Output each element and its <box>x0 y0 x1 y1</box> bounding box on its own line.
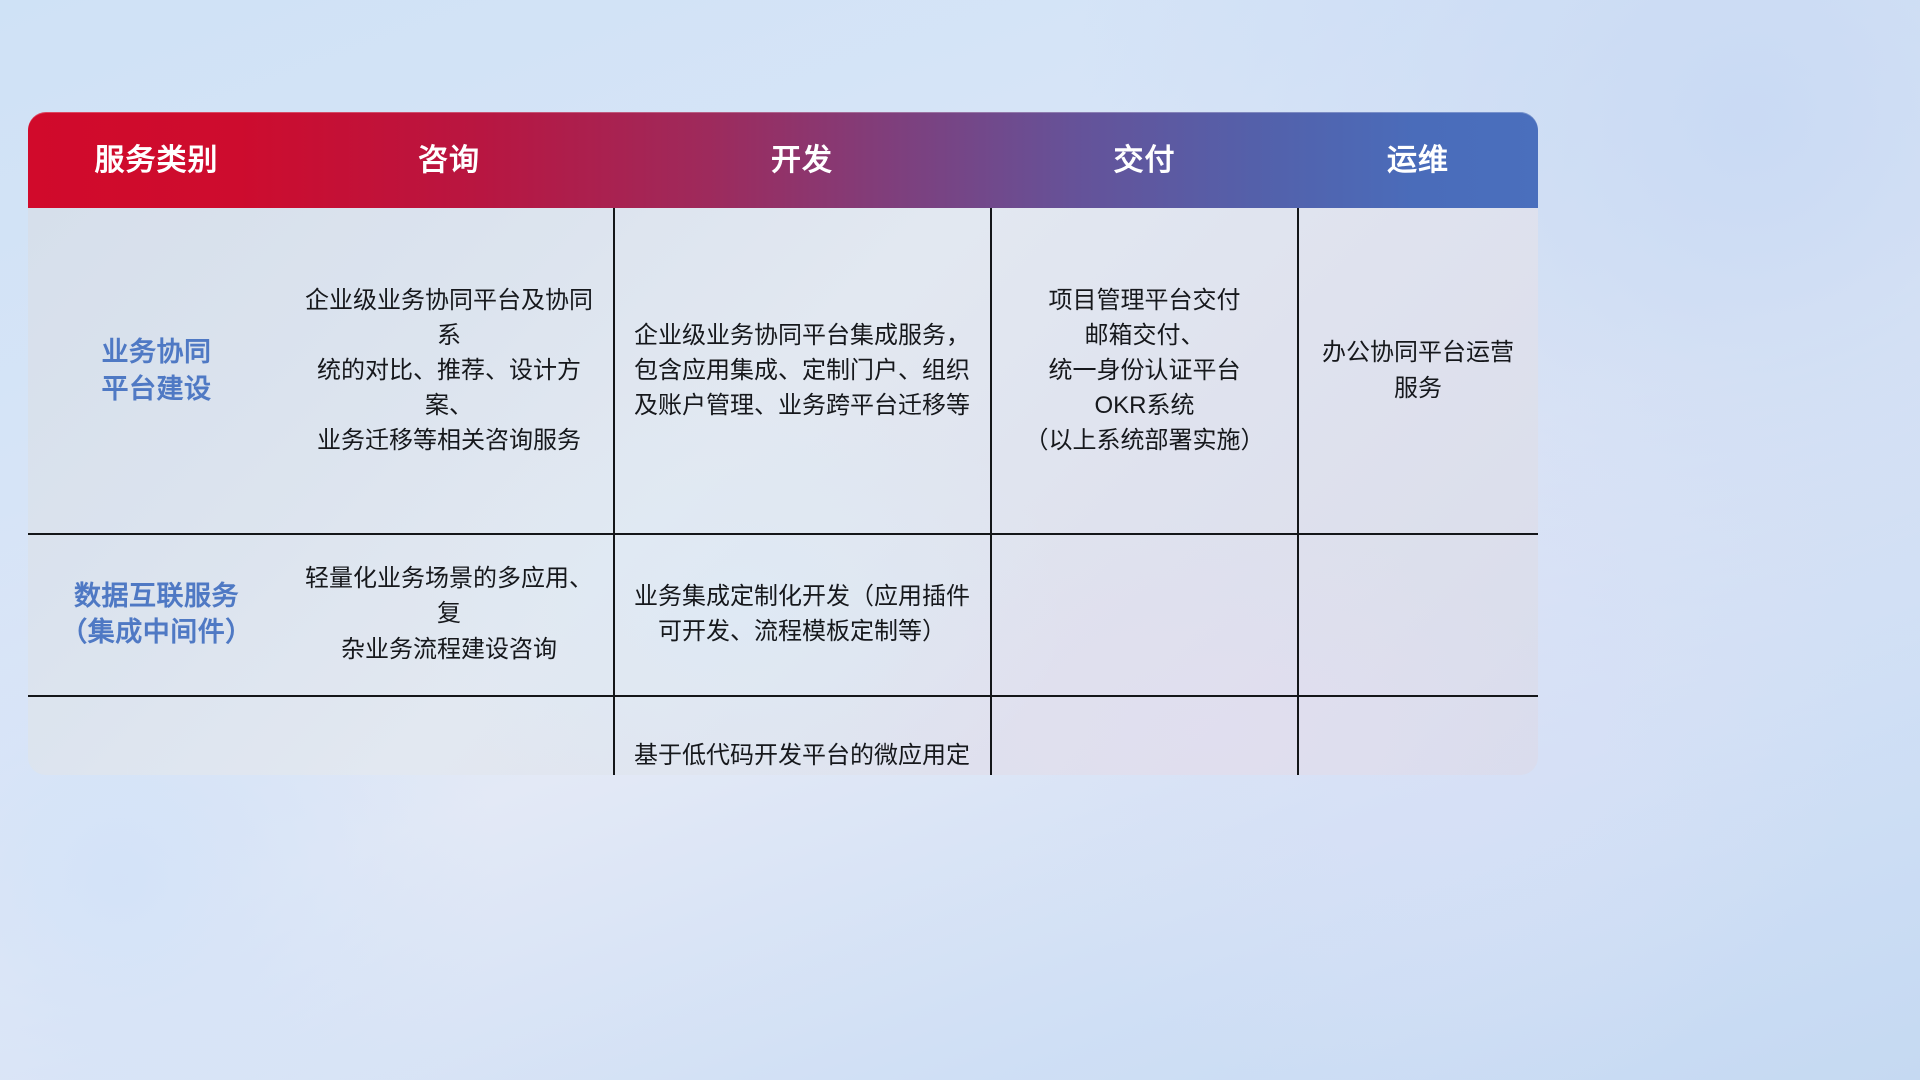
cell-2-delivery: 应用分发及管理 <box>991 695 1298 775</box>
cell-0-consulting: 企业级业务协同平台及协同系统的对比、推荐、设计方案、业务迁移等相关咨询服务 <box>285 208 613 533</box>
cell-0-development: 企业级业务协同平台集成服务，包含应用集成、定制门户、组织及账户管理、业务跨平台迁… <box>613 208 991 533</box>
cell-2-development: 基于低代码开发平台的微应用定制开发；基于通过语言的微应用定制开发 <box>613 695 991 775</box>
column-divider-2 <box>990 208 992 775</box>
cell-0-delivery: 项目管理平台交付邮箱交付、统一身份认证平台OKR系统（以上系统部署实施） <box>991 208 1298 533</box>
table-row: 数据互联服务（集成中间件）轻量化业务场景的多应用、复杂业务流程建设咨询业务集成定… <box>28 533 1538 695</box>
cell-text: 低代码平台推荐及咨询 <box>329 773 569 775</box>
cell-1-operations <box>1298 533 1538 695</box>
column-header-consulting: 咨询 <box>285 144 613 177</box>
service-matrix-table: 服务类别 咨询 开发 交付 运维 业务协同平台建设企业级业务协同平台及协同系统的… <box>28 112 1538 775</box>
column-header-service-category: 服务类别 <box>28 144 285 177</box>
table-row: 应用定制低代码平台推荐及咨询基于低代码开发平台的微应用定制开发；基于通过语言的微… <box>28 695 1538 775</box>
cell-text: 轻量化业务场景的多应用、复杂业务流程建设咨询 <box>299 561 599 666</box>
cell-2-category: 应用定制 <box>28 695 285 775</box>
row-divider-1 <box>28 533 1538 535</box>
row-divider-2 <box>28 695 1538 697</box>
column-header-development: 开发 <box>613 144 991 177</box>
cell-1-development: 业务集成定制化开发（应用插件可开发、流程模板定制等） <box>613 533 991 695</box>
category-label: 应用定制 <box>102 773 212 775</box>
table-header-row: 服务类别 咨询 开发 交付 运维 <box>28 112 1538 208</box>
cell-text: 项目管理平台交付邮箱交付、统一身份认证平台OKR系统（以上系统部署实施） <box>1025 283 1265 458</box>
table-rows: 业务协同平台建设企业级业务协同平台及协同系统的对比、推荐、设计方案、业务迁移等相… <box>28 208 1538 775</box>
cell-text: 业务集成定制化开发（应用插件可开发、流程模板定制等） <box>634 579 970 649</box>
category-label: 业务协同平台建设 <box>102 334 212 407</box>
cell-0-category: 业务协同平台建设 <box>28 208 285 533</box>
cell-text: 办公协同平台运营服务 <box>1312 335 1524 405</box>
slide-canvas: 服务类别 咨询 开发 交付 运维 业务协同平台建设企业级业务协同平台及协同系统的… <box>0 0 1920 1080</box>
cell-text: 企业级业务协同平台及协同系统的对比、推荐、设计方案、业务迁移等相关咨询服务 <box>299 283 599 458</box>
column-divider-1 <box>613 208 615 775</box>
category-label: 数据互联服务（集成中间件） <box>60 578 253 651</box>
column-header-operations: 运维 <box>1298 144 1538 177</box>
cell-1-delivery <box>991 533 1298 695</box>
cell-1-category: 数据互联服务（集成中间件） <box>28 533 285 695</box>
table-row: 业务协同平台建设企业级业务协同平台及协同系统的对比、推荐、设计方案、业务迁移等相… <box>28 208 1538 533</box>
cell-2-consulting: 低代码平台推荐及咨询 <box>285 695 613 775</box>
table-body: 业务协同平台建设企业级业务协同平台及协同系统的对比、推荐、设计方案、业务迁移等相… <box>28 208 1538 775</box>
cell-1-consulting: 轻量化业务场景的多应用、复杂业务流程建设咨询 <box>285 533 613 695</box>
cell-0-operations: 办公协同平台运营服务 <box>1298 208 1538 533</box>
cell-text: 企业级业务协同平台集成服务，包含应用集成、定制门户、组织及账户管理、业务跨平台迁… <box>634 318 970 423</box>
cell-text: 应用分发及管理 <box>1061 773 1229 775</box>
cell-2-operations <box>1298 695 1538 775</box>
cell-text: 基于低代码开发平台的微应用定制开发；基于通过语言的微应用定制开发 <box>634 738 970 775</box>
column-divider-3 <box>1297 208 1299 775</box>
column-header-delivery: 交付 <box>991 144 1298 177</box>
